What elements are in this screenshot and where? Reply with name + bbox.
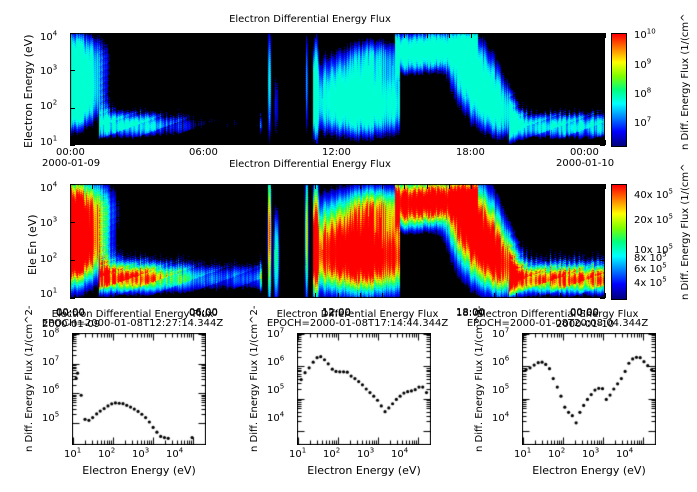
middle-ytick-2: 102: [40, 255, 57, 265]
spectrum-1-xtick-2: 103: [132, 450, 149, 460]
axis-tick: [248, 33, 249, 38]
axis-tick: [338, 184, 339, 189]
axis-tick: [600, 298, 605, 299]
middle-colorbar: [611, 184, 627, 300]
axis-tick: [382, 293, 383, 298]
top-colorbar: [611, 33, 627, 147]
axis-tick: [516, 33, 517, 38]
axis-tick: [382, 140, 383, 145]
middle-ytick-1: 101: [40, 290, 57, 300]
spectrum-1-ytick-2: 106: [42, 386, 59, 396]
top-ytick-3: 103: [40, 67, 57, 77]
axis-tick: [583, 293, 584, 298]
axis-tick: [471, 140, 472, 145]
axis-tick: [70, 298, 75, 299]
axis-tick: [560, 184, 561, 189]
spectrum-2-ytick-1: 106: [267, 358, 284, 368]
axis-tick: [159, 33, 160, 38]
spectrum-1-xtick-3: 104: [166, 450, 183, 460]
axis-tick: [404, 140, 405, 145]
axis-tick: [538, 33, 539, 38]
axis-tick: [70, 184, 75, 185]
top-ytick-2: 102: [40, 102, 57, 112]
axis-tick: [181, 184, 182, 189]
axis-tick: [137, 140, 138, 145]
axis-tick: [427, 184, 428, 189]
axis-tick: [70, 260, 75, 261]
axis-tick: [560, 140, 561, 145]
axis-tick: [600, 145, 605, 146]
axis-tick: [315, 293, 316, 298]
top-spectrogram[interactable]: [70, 33, 605, 145]
axis-tick: [92, 33, 93, 38]
top-xtick-1: 06:00: [189, 148, 218, 158]
axis-tick: [600, 260, 605, 261]
axis-tick: [315, 184, 316, 189]
axis-tick: [137, 33, 138, 38]
top-cbar-tick-1: 109: [634, 61, 651, 71]
axis-tick: [204, 33, 205, 38]
top-cbar-tick-0: 1010: [634, 31, 656, 41]
middle-cbar-tick-5: 4x 105: [634, 279, 667, 289]
axis-tick: [115, 33, 116, 38]
axis-tick: [360, 184, 361, 189]
axis-tick: [494, 33, 495, 38]
middle-cbar-tick-0: 40x 105: [634, 191, 673, 201]
axis-tick: [271, 184, 272, 189]
axis-tick: [115, 140, 116, 145]
axis-tick: [137, 184, 138, 189]
spectrum-3-xtick-3: 104: [616, 450, 633, 460]
spectrum-3-ytick-1: 106: [492, 358, 509, 368]
axis-tick: [560, 33, 561, 38]
middle-cbar-tick-4: 6x 105: [634, 265, 667, 275]
axis-tick: [583, 184, 584, 189]
top-ytick-4: 104: [40, 33, 57, 43]
axis-tick: [449, 184, 450, 189]
axis-tick: [315, 140, 316, 145]
top-cbar-tick-3: 107: [634, 119, 651, 129]
axis-tick: [338, 33, 339, 38]
axis-tick: [516, 293, 517, 298]
middle-colorbar-label-group: n Diff. Energy Flux (1/(cm^: [680, 300, 697, 311]
axis-tick: [538, 293, 539, 298]
axis-tick: [70, 222, 75, 223]
axis-tick: [181, 293, 182, 298]
axis-tick: [449, 33, 450, 38]
axis-tick: [427, 33, 428, 38]
spectrum-2-xtick-3: 104: [391, 450, 408, 460]
spectrum-3-ytick-3: 104: [492, 414, 509, 424]
axis-tick: [271, 140, 272, 145]
axis-tick: [471, 184, 472, 189]
axis-tick: [226, 33, 227, 38]
axis-tick: [605, 33, 606, 38]
axis-tick: [70, 145, 75, 146]
spectrum-2-xtick-0: 101: [289, 450, 306, 460]
spectrum-3-plot[interactable]: [522, 333, 656, 445]
spectrum-2-xlabel: Electron Energy (eV): [297, 464, 431, 477]
axis-tick: [382, 184, 383, 189]
middle-spectrogram[interactable]: [70, 184, 605, 298]
axis-tick: [137, 293, 138, 298]
axis-tick: [159, 140, 160, 145]
axis-tick: [560, 293, 561, 298]
top-panel-ylabel: Electron Energy (eV): [22, 35, 35, 149]
axis-tick: [226, 140, 227, 145]
axis-tick: [338, 140, 339, 145]
axis-tick: [605, 293, 606, 298]
middle-panel-ylabel: Ele En (eV): [26, 214, 39, 275]
spectrum-2-plot[interactable]: [297, 333, 431, 445]
top-xtick-0: 00:00: [56, 148, 85, 158]
spectrum-1-ytick-1: 107: [42, 358, 59, 368]
axis-tick: [70, 108, 75, 109]
axis-tick: [92, 184, 93, 189]
top-xtick-2: 12:00: [322, 148, 351, 158]
axis-tick: [293, 293, 294, 298]
axis-tick: [70, 33, 75, 34]
spectrum-2-xtick-1: 102: [323, 450, 340, 460]
top-cbar-tick-2: 108: [634, 90, 651, 100]
spectrum-3-ylabel: n Diff. Energy Flux (1/(cm^2-: [474, 305, 485, 452]
top-xtick-3: 18:00: [456, 148, 485, 158]
middle-panel-title: Electron Differential Energy Flux: [0, 159, 620, 170]
spectrum-1-xtick-1: 102: [98, 450, 115, 460]
axis-tick: [92, 293, 93, 298]
spectrum-1-ylabel: n Diff. Energy Flux (1/(cm^2-: [24, 305, 35, 452]
axis-tick: [115, 184, 116, 189]
axis-tick: [516, 184, 517, 189]
axis-tick: [605, 140, 606, 145]
axis-tick: [600, 184, 605, 185]
axis-tick: [404, 33, 405, 38]
axis-tick: [516, 140, 517, 145]
axis-tick: [226, 184, 227, 189]
middle-ytick-4: 104: [40, 184, 57, 194]
spectrum-3-xtick-0: 101: [514, 450, 531, 460]
spectrum-2-ytick-2: 105: [267, 386, 284, 396]
spectrum-3-xtick-1: 102: [548, 450, 565, 460]
axis-tick: [494, 140, 495, 145]
spectrum-2-xtick-2: 103: [357, 450, 374, 460]
axis-tick: [248, 293, 249, 298]
axis-tick: [583, 33, 584, 38]
axis-tick: [360, 293, 361, 298]
axis-tick: [338, 293, 339, 298]
spectrum-3-ytick-2: 105: [492, 386, 509, 396]
axis-tick: [70, 70, 75, 71]
axis-tick: [360, 140, 361, 145]
axis-tick: [471, 33, 472, 38]
bottom-overlap-xtick-1: 06:00: [189, 309, 218, 319]
spectrum-3-ytick-0: 107: [492, 330, 509, 340]
axis-tick: [271, 293, 272, 298]
axis-tick: [293, 33, 294, 38]
axis-tick: [204, 140, 205, 145]
bottom-overlap-date-right: 2000-01-10: [556, 320, 614, 330]
axis-tick: [449, 140, 450, 145]
bottom-overlap-xtick-0: 00:00: [56, 309, 85, 319]
spectrum-1-ytick-3: 105: [42, 414, 59, 424]
spectrum-1-xlabel: Electron Energy (eV): [72, 464, 206, 477]
axis-tick: [271, 33, 272, 38]
axis-tick: [583, 140, 584, 145]
axis-tick: [248, 140, 249, 145]
axis-tick: [538, 184, 539, 189]
axis-tick: [600, 108, 605, 109]
axis-tick: [315, 33, 316, 38]
axis-tick: [471, 293, 472, 298]
axis-tick: [159, 293, 160, 298]
axis-tick: [494, 293, 495, 298]
bottom-overlap-xtick-4: 00:00: [570, 309, 599, 319]
axis-tick: [427, 140, 428, 145]
axis-tick: [404, 293, 405, 298]
top-ytick-1: 101: [40, 138, 57, 148]
axis-tick: [293, 140, 294, 145]
axis-tick: [427, 293, 428, 298]
axis-tick: [159, 184, 160, 189]
axis-tick: [181, 140, 182, 145]
axis-tick: [181, 33, 182, 38]
axis-tick: [248, 184, 249, 189]
axis-tick: [404, 184, 405, 189]
axis-tick: [204, 293, 205, 298]
top-xtick-4: 00:00: [570, 148, 599, 158]
top-panel-title: Electron Differential Energy Flux: [0, 14, 620, 25]
axis-tick: [382, 33, 383, 38]
axis-tick: [605, 184, 606, 189]
axis-tick: [449, 293, 450, 298]
middle-ytick-3: 103: [40, 219, 57, 229]
spectrum-2-ytick-3: 104: [267, 414, 284, 424]
bottom-overlap-xtick-2: 12:00: [322, 309, 351, 319]
middle-colorbar-label: n Diff. Energy Flux (1/(cm^: [680, 163, 691, 300]
axis-tick: [494, 184, 495, 189]
spectrum-1-plot[interactable]: [72, 333, 206, 445]
top-colorbar-label: n Diff. Energy Flux (1/(cm^: [680, 13, 691, 150]
top-colorbar-label-group: n Diff. Energy Flux (1/(cm^: [680, 150, 697, 161]
axis-tick: [600, 70, 605, 71]
spectrum-3-xlabel: Electron Energy (eV): [522, 464, 656, 477]
spectrum-2-ylabel: n Diff. Energy Flux (1/(cm^2-: [249, 305, 260, 452]
axis-tick: [538, 140, 539, 145]
spectrum-1-xtick-0: 101: [64, 450, 81, 460]
spectrum-2-ytick-0: 107: [267, 330, 284, 340]
axis-tick: [92, 140, 93, 145]
axis-tick: [600, 222, 605, 223]
axis-tick: [293, 184, 294, 189]
middle-cbar-tick-1: 20x 105: [634, 216, 673, 226]
axis-tick: [204, 184, 205, 189]
axis-tick: [600, 33, 605, 34]
spectrum-1-ytick-0: 108: [42, 330, 59, 340]
axis-tick: [226, 293, 227, 298]
axis-tick: [115, 293, 116, 298]
spectrum-3-xtick-2: 103: [582, 450, 599, 460]
axis-tick: [360, 33, 361, 38]
